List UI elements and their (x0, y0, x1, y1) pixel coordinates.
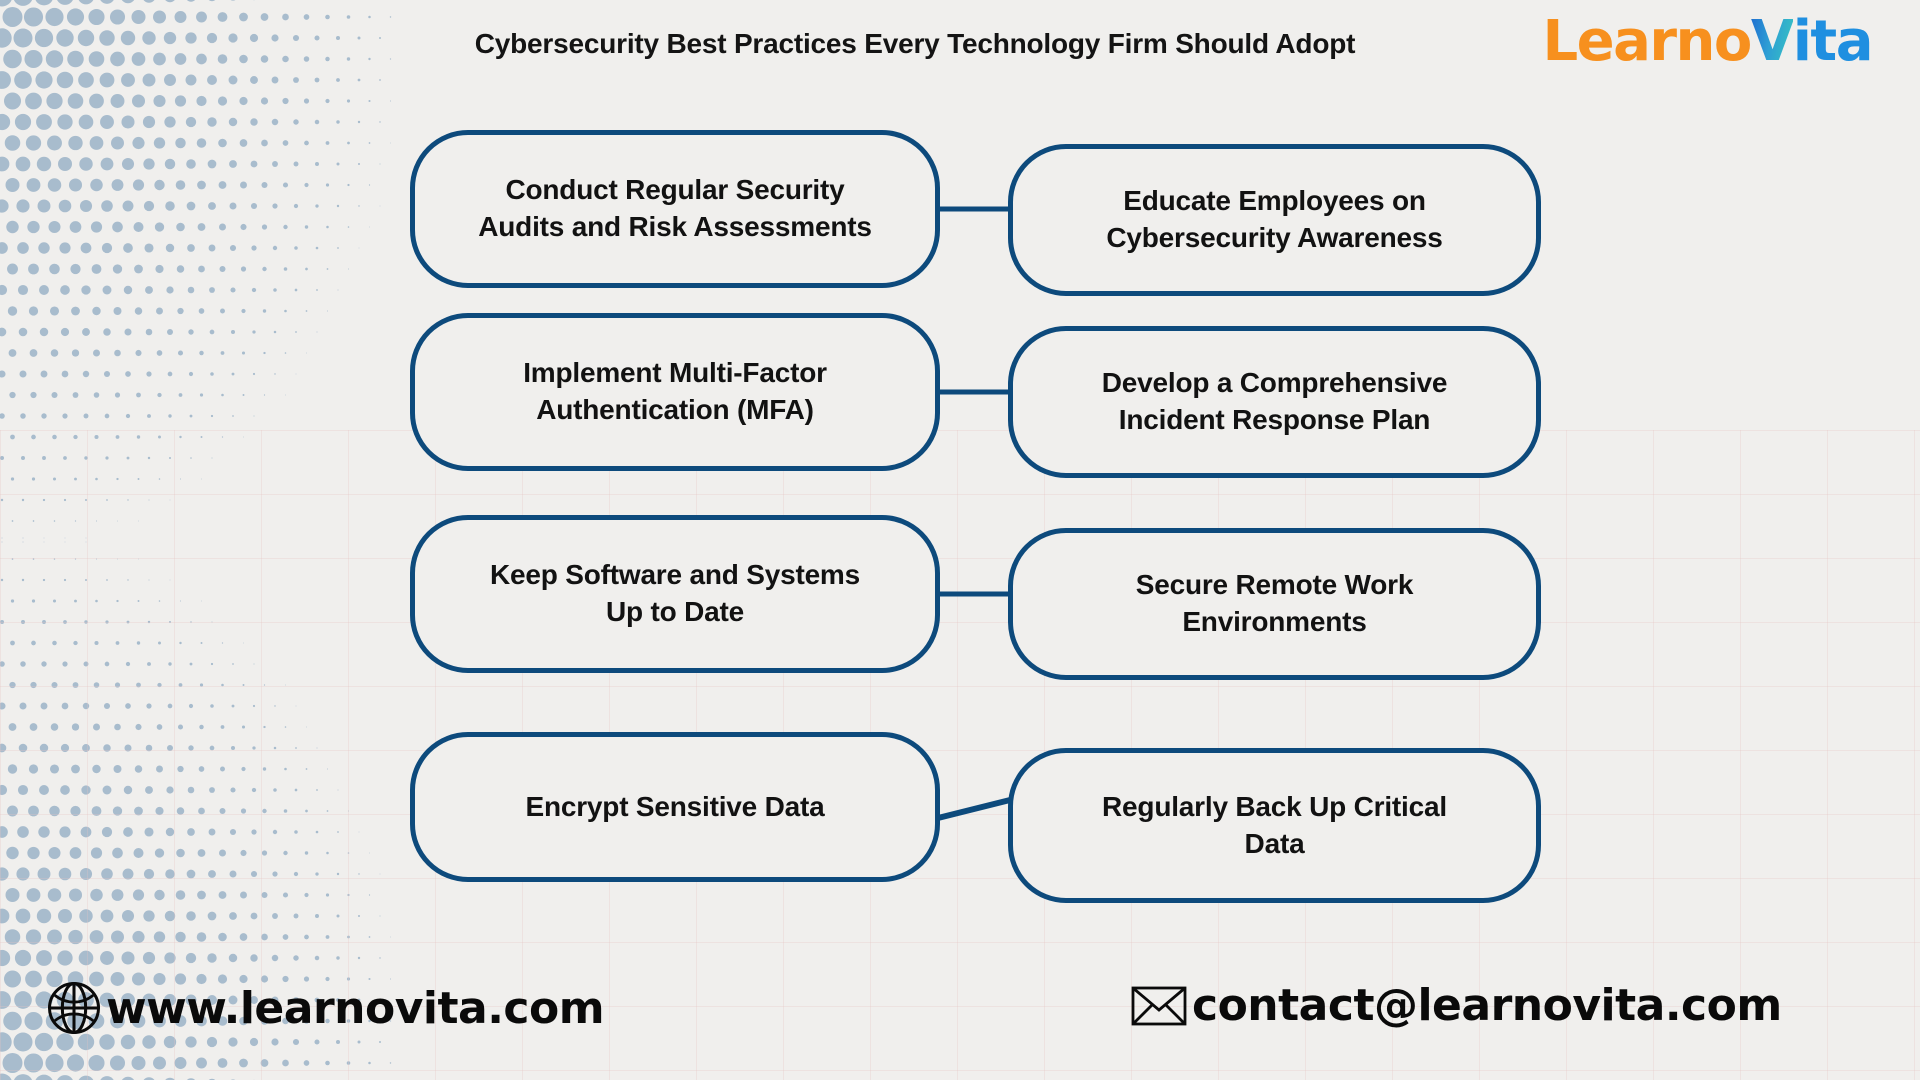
footer-website[interactable]: www.learnovita.com (46, 980, 604, 1036)
practice-box-text: Conduct Regular SecurityAudits and Risk … (478, 172, 871, 246)
practice-box-text: Keep Software and SystemsUp to Date (490, 557, 860, 631)
footer: www.learnovita.com contact@learnovita.co… (0, 970, 1920, 1080)
practice-box-text: Secure Remote WorkEnvironments (1136, 567, 1414, 641)
practice-box-right[interactable]: Regularly Back Up CriticalData (1008, 748, 1541, 903)
globe-icon (46, 980, 102, 1036)
practice-box-text: Regularly Back Up CriticalData (1102, 789, 1447, 863)
connector-row-4 (938, 800, 1010, 818)
practice-box-left[interactable]: Conduct Regular SecurityAudits and Risk … (410, 130, 940, 288)
practice-box-right[interactable]: Secure Remote WorkEnvironments (1008, 528, 1541, 680)
envelope-icon (1130, 982, 1188, 1030)
header: Cybersecurity Best Practices Every Techn… (0, 0, 1920, 100)
practice-box-right[interactable]: Educate Employees onCybersecurity Awaren… (1008, 144, 1541, 296)
practice-box-text: Educate Employees onCybersecurity Awaren… (1106, 183, 1442, 257)
practice-box-left[interactable]: Encrypt Sensitive Data (410, 732, 940, 882)
footer-website-text: www.learnovita.com (106, 983, 604, 1034)
footer-email[interactable]: contact@learnovita.com (1130, 980, 1782, 1031)
diagram-body: Conduct Regular SecurityAudits and Risk … (0, 100, 1920, 970)
page-title: Cybersecurity Best Practices Every Techn… (385, 28, 1445, 60)
connector-lines (0, 100, 1920, 970)
footer-email-text: contact@learnovita.com (1192, 980, 1782, 1031)
practice-box-text: Implement Multi-FactorAuthentication (MF… (523, 355, 827, 429)
practice-box-right[interactable]: Develop a ComprehensiveIncident Response… (1008, 326, 1541, 478)
practice-box-left[interactable]: Keep Software and SystemsUp to Date (410, 515, 940, 673)
logo-text-ita: ita (1793, 14, 1872, 70)
practice-box-text: Encrypt Sensitive Data (525, 789, 824, 826)
learnovita-logo: LearnoVita (1542, 14, 1872, 70)
logo-text-learno: Learno (1542, 14, 1750, 70)
logo-text-v: V (1751, 14, 1793, 70)
practice-box-left[interactable]: Implement Multi-FactorAuthentication (MF… (410, 313, 940, 471)
practice-box-text: Develop a ComprehensiveIncident Response… (1102, 365, 1448, 439)
